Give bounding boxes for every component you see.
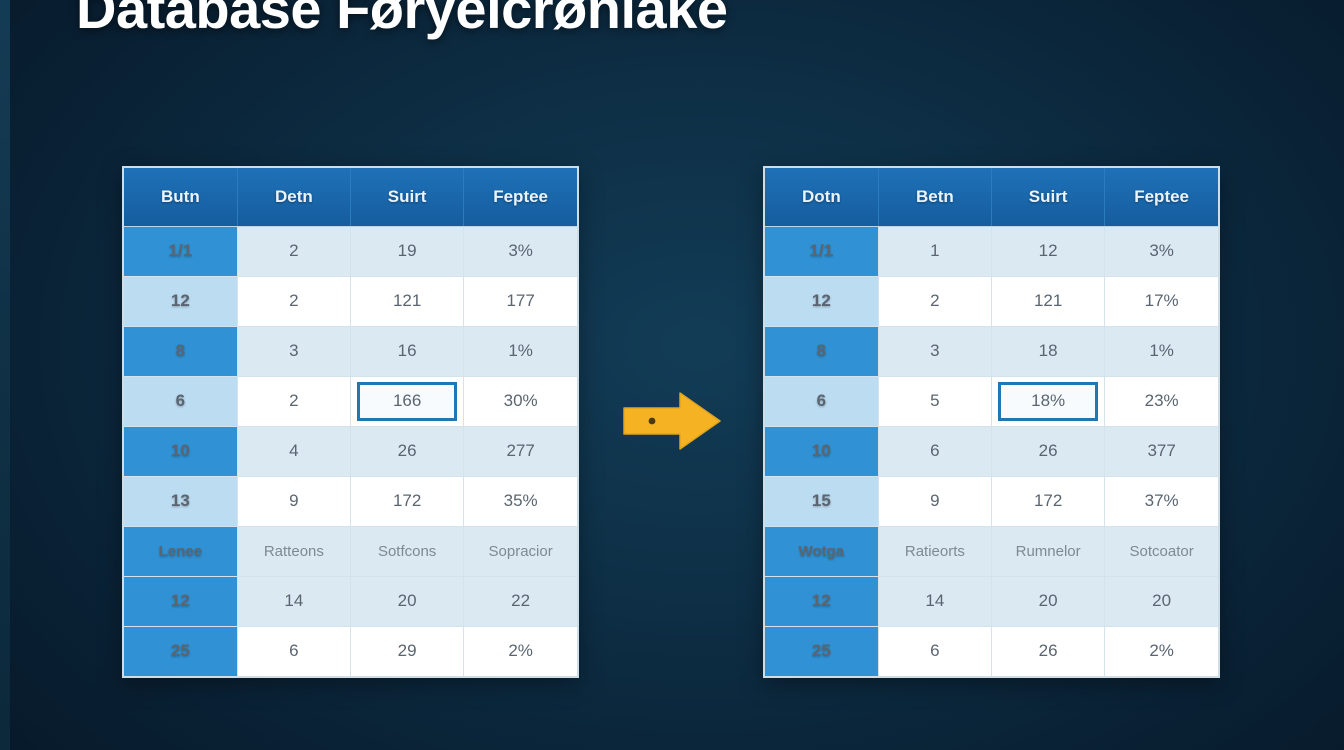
table-cell[interactable]: 16: [351, 326, 464, 376]
table-cell[interactable]: 6: [237, 626, 350, 676]
table-row[interactable]: 10626377: [765, 426, 1218, 476]
row-key-cell[interactable]: 12: [765, 276, 878, 326]
table-cell[interactable]: 3: [878, 326, 991, 376]
table-row[interactable]: 83181%: [765, 326, 1218, 376]
row-key-cell[interactable]: 12: [765, 576, 878, 626]
table-cell[interactable]: Sotcoator: [1105, 526, 1218, 576]
row-key-cell[interactable]: 25: [765, 626, 878, 676]
table-cell[interactable]: 2: [237, 376, 350, 426]
table-cell[interactable]: 5: [878, 376, 991, 426]
row-key-cell[interactable]: 25: [124, 626, 237, 676]
after-table-head: Dotn Betn Suirt Feptee: [765, 168, 1218, 226]
table-cell[interactable]: 22: [464, 576, 577, 626]
table-cell[interactable]: 6: [878, 626, 991, 676]
column-header-1[interactable]: Betn: [878, 168, 991, 226]
table-cell[interactable]: 2: [237, 276, 350, 326]
table-row[interactable]: 12142022: [124, 576, 577, 626]
column-header-3[interactable]: Feptee: [464, 168, 577, 226]
highlighted-cell[interactable]: 18%: [992, 376, 1105, 426]
row-key-cell[interactable]: 8: [765, 326, 878, 376]
right-arrow-icon: [622, 390, 722, 452]
row-key-cell[interactable]: 6: [765, 376, 878, 426]
table-cell[interactable]: 23%: [1105, 376, 1218, 426]
highlighted-cell[interactable]: 166: [351, 376, 464, 426]
highlight-box: 166: [357, 382, 457, 421]
table-cell[interactable]: 18: [992, 326, 1105, 376]
table-cell[interactable]: 2: [237, 226, 350, 276]
table-cell[interactable]: 3: [237, 326, 350, 376]
table-row[interactable]: 83161%: [124, 326, 577, 376]
table-cell[interactable]: 277: [464, 426, 577, 476]
table-row[interactable]: 10426277: [124, 426, 577, 476]
table-cell[interactable]: 17%: [1105, 276, 1218, 326]
table-header-row: Dotn Betn Suirt Feptee: [765, 168, 1218, 226]
table-header-row: Butn Detn Suirt Feptee: [124, 168, 577, 226]
before-table-body: 1/12193%12212117783161%6216630%104262771…: [124, 226, 577, 676]
row-key-cell[interactable]: 12: [124, 576, 237, 626]
table-cell[interactable]: Ratteons: [237, 526, 350, 576]
after-table-body: 1/11123%12212117%83181%6518%23%106263771…: [765, 226, 1218, 676]
table-cell[interactable]: 2%: [1105, 626, 1218, 676]
table-cell[interactable]: 2: [878, 276, 991, 326]
table-cell[interactable]: 37%: [1105, 476, 1218, 526]
table-row[interactable]: 6518%23%: [765, 376, 1218, 426]
before-table-head: Butn Detn Suirt Feptee: [124, 168, 577, 226]
row-key-cell[interactable]: 10: [765, 426, 878, 476]
table-row[interactable]: 15917237%: [765, 476, 1218, 526]
table-cell[interactable]: 6: [878, 426, 991, 476]
highlight-box: 18%: [998, 382, 1098, 421]
table-cell[interactable]: 12: [992, 226, 1105, 276]
table-cell[interactable]: 35%: [464, 476, 577, 526]
table-cell[interactable]: 20: [351, 576, 464, 626]
table-row[interactable]: WotgaRatieortsRumnelorSotcoator: [765, 526, 1218, 576]
table-cell[interactable]: 9: [878, 476, 991, 526]
row-key-cell[interactable]: 10: [124, 426, 237, 476]
table-cell[interactable]: 377: [1105, 426, 1218, 476]
table-row[interactable]: 1/11123%: [765, 226, 1218, 276]
table-cell[interactable]: Sotfcons: [351, 526, 464, 576]
column-header-1[interactable]: Detn: [237, 168, 350, 226]
table-cell[interactable]: 26: [351, 426, 464, 476]
table-row[interactable]: 6216630%: [124, 376, 577, 426]
column-header-0[interactable]: Dotn: [765, 168, 878, 226]
table-row[interactable]: LeneeRatteonsSotfconsSopracior: [124, 526, 577, 576]
row-key-cell[interactable]: Lenee: [124, 526, 237, 576]
table-row[interactable]: 256292%: [124, 626, 577, 676]
slide-stage: Database Føryelcrønlake Butn Detn Suirt …: [0, 0, 1344, 750]
table-cell[interactable]: 3%: [464, 226, 577, 276]
column-header-0[interactable]: Butn: [124, 168, 237, 226]
table-cell[interactable]: 9: [237, 476, 350, 526]
row-key-cell[interactable]: 1/1: [124, 226, 237, 276]
column-header-2[interactable]: Suirt: [992, 168, 1105, 226]
column-header-2[interactable]: Suirt: [351, 168, 464, 226]
after-table-card: Dotn Betn Suirt Feptee 1/11123%12212117%…: [763, 166, 1220, 678]
table-cell[interactable]: 14: [878, 576, 991, 626]
before-table: Butn Detn Suirt Feptee 1/12193%122121177…: [124, 168, 577, 676]
table-cell[interactable]: 121: [351, 276, 464, 326]
table-cell[interactable]: 20: [1105, 576, 1218, 626]
table-row[interactable]: 12142020: [765, 576, 1218, 626]
table-row[interactable]: 12212117%: [765, 276, 1218, 326]
row-key-cell[interactable]: 1/1: [765, 226, 878, 276]
row-key-cell[interactable]: 12: [124, 276, 237, 326]
table-cell[interactable]: Sopracior: [464, 526, 577, 576]
table-cell[interactable]: 26: [992, 426, 1105, 476]
table-cell[interactable]: 177: [464, 276, 577, 326]
table-cell[interactable]: 172: [351, 476, 464, 526]
row-key-cell[interactable]: 13: [124, 476, 237, 526]
table-cell[interactable]: 29: [351, 626, 464, 676]
table-cell[interactable]: 2%: [464, 626, 577, 676]
table-cell[interactable]: 3%: [1105, 226, 1218, 276]
row-key-cell[interactable]: Wotga: [765, 526, 878, 576]
column-header-3[interactable]: Feptee: [1105, 168, 1218, 226]
table-cell[interactable]: Ratieorts: [878, 526, 991, 576]
table-cell[interactable]: 4: [237, 426, 350, 476]
page-title: Database Føryelcrønlake: [76, 0, 727, 41]
table-cell[interactable]: 1%: [464, 326, 577, 376]
table-cell[interactable]: 1: [878, 226, 991, 276]
table-cell[interactable]: 30%: [464, 376, 577, 426]
table-cell[interactable]: 26: [992, 626, 1105, 676]
table-cell[interactable]: 172: [992, 476, 1105, 526]
after-table: Dotn Betn Suirt Feptee 1/11123%12212117%…: [765, 168, 1218, 676]
table-cell[interactable]: 121: [992, 276, 1105, 326]
table-cell[interactable]: 20: [992, 576, 1105, 626]
table-row[interactable]: 13917235%: [124, 476, 577, 526]
row-key-cell[interactable]: 6: [124, 376, 237, 426]
table-cell[interactable]: 14: [237, 576, 350, 626]
table-row[interactable]: 1/12193%: [124, 226, 577, 276]
table-cell[interactable]: 1%: [1105, 326, 1218, 376]
row-key-cell[interactable]: 8: [124, 326, 237, 376]
table-cell[interactable]: Rumnelor: [992, 526, 1105, 576]
table-row[interactable]: 256262%: [765, 626, 1218, 676]
row-key-cell[interactable]: 15: [765, 476, 878, 526]
table-row[interactable]: 122121177: [124, 276, 577, 326]
table-cell[interactable]: 19: [351, 226, 464, 276]
before-table-card: Butn Detn Suirt Feptee 1/12193%122121177…: [122, 166, 579, 678]
